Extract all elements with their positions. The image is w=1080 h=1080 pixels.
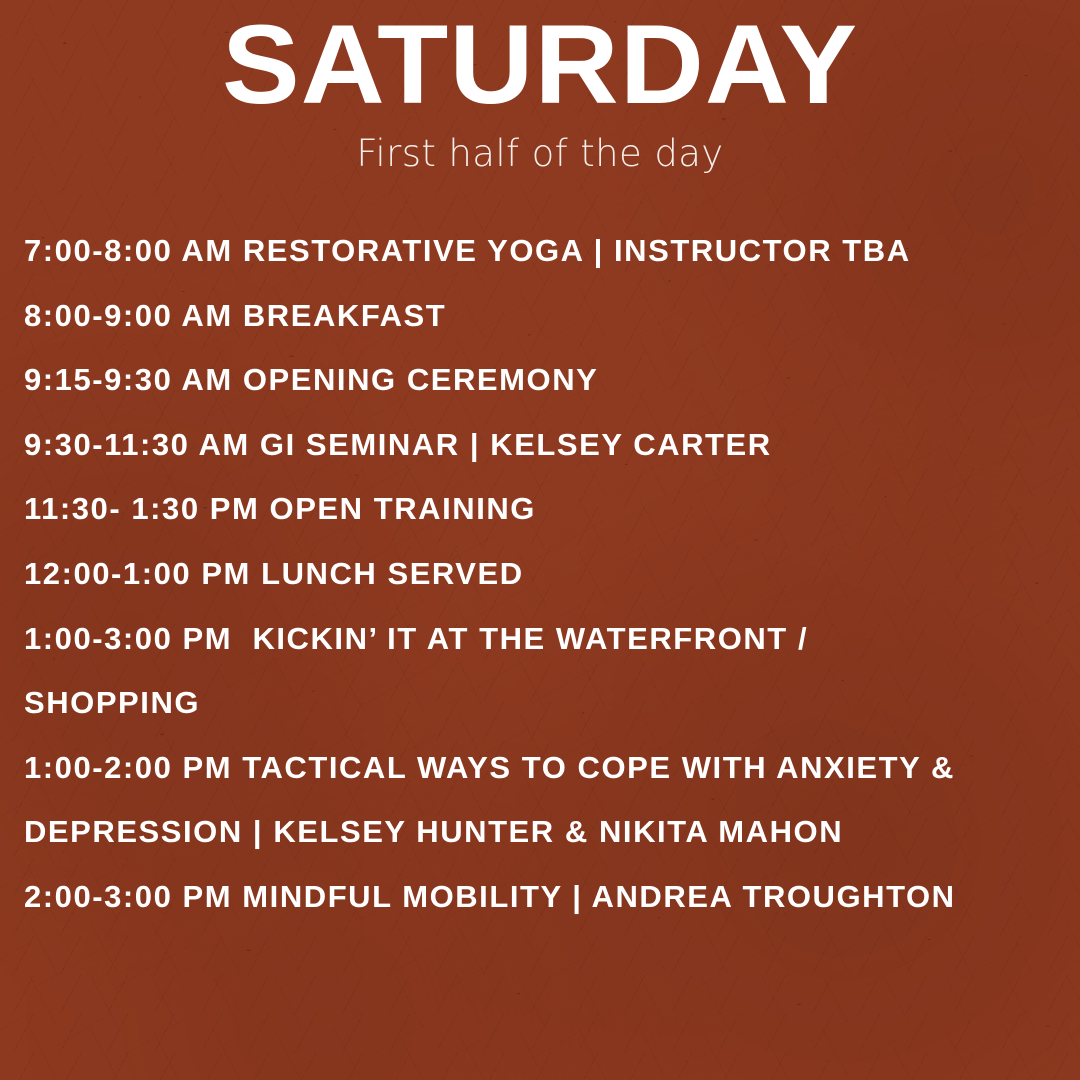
list-item: SHOPPING [24,671,1060,736]
list-item: 9:15-9:30 AM OPENING CEREMONY [24,348,1060,413]
list-item: DEPRESSION | KELSEY HUNTER & NIKITA MAHO… [24,800,1060,865]
list-item: 2:00-3:00 PM MINDFUL MOBILITY | ANDREA T… [24,865,1060,930]
page-title: SATURDAY [0,10,1080,120]
list-item: 7:00-8:00 AM RESTORATIVE YOGA | INSTRUCT… [24,219,1060,284]
list-item: 12:00-1:00 PM LUNCH SERVED [24,542,1060,607]
list-item: 9:30-11:30 AM GI SEMINAR | KELSEY CARTER [24,413,1060,478]
poster-content: SATURDAY First half of the day 7:00-8:00… [0,0,1080,1080]
page-subtitle: First half of the day [0,131,1080,177]
list-item: 1:00-3:00 PM KICKIN’ IT AT THE WATERFRON… [24,607,1060,672]
schedule-list: 7:00-8:00 AM RESTORATIVE YOGA | INSTRUCT… [24,219,1060,930]
list-item: 11:30- 1:30 PM OPEN TRAINING [24,477,1060,542]
list-item: 8:00-9:00 AM BREAKFAST [24,284,1060,349]
list-item: 1:00-2:00 PM TACTICAL WAYS TO COPE WITH … [24,736,1060,801]
saturday-schedule-poster: SATURDAY First half of the day 7:00-8:00… [0,0,1080,1080]
